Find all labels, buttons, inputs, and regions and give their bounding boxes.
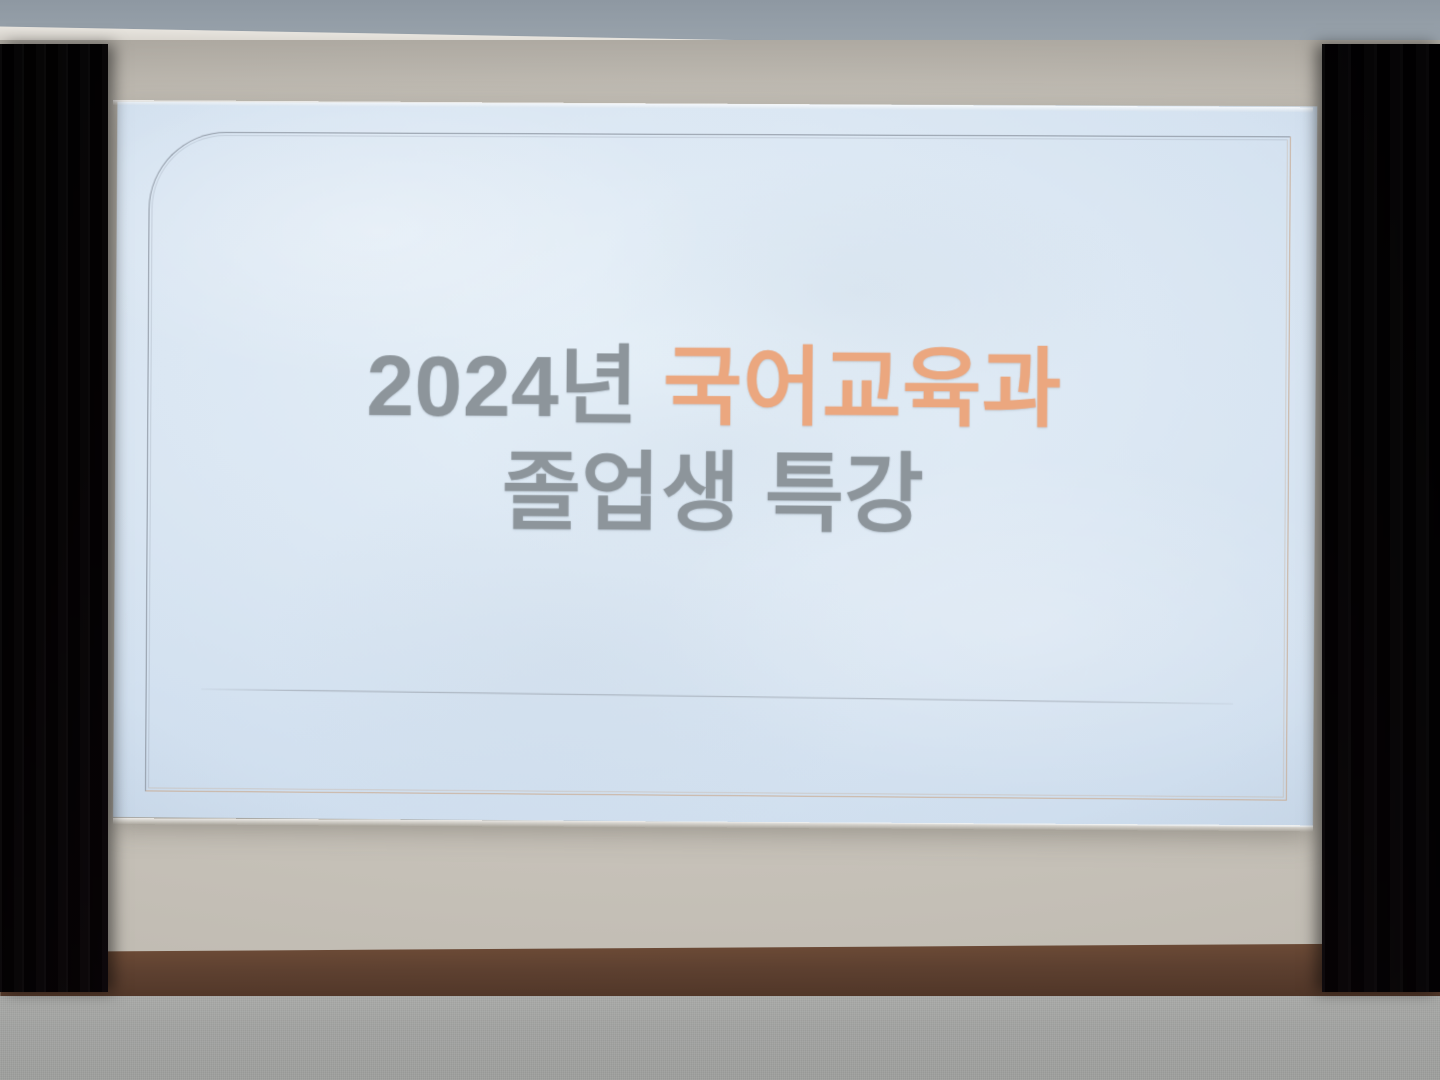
slide-title-space (638, 340, 663, 436)
projection-screen: 2024년 국어교육과 졸업생 특강 (113, 102, 1317, 827)
lecture-hall-scene: 2024년 국어교육과 졸업생 특강 (0, 0, 1440, 1080)
slide-title-line-1: 2024년 국어교육과 (115, 339, 1315, 438)
slide-title: 2024년 국어교육과 졸업생 특강 (115, 339, 1316, 544)
slide-title-department: 국어교육과 (663, 340, 1062, 438)
slide-content: 2024년 국어교육과 졸업생 특강 (113, 102, 1317, 827)
curtain-right (1322, 44, 1440, 992)
carpet-floor (0, 996, 1440, 1080)
slide-title-year: 2024년 (366, 338, 639, 435)
curtain-left (0, 44, 108, 992)
slide-title-line-2: 졸업생 특강 (115, 444, 1315, 544)
slide-divider-line (201, 689, 1233, 705)
projected-slide: 2024년 국어교육과 졸업생 특강 (113, 102, 1317, 827)
